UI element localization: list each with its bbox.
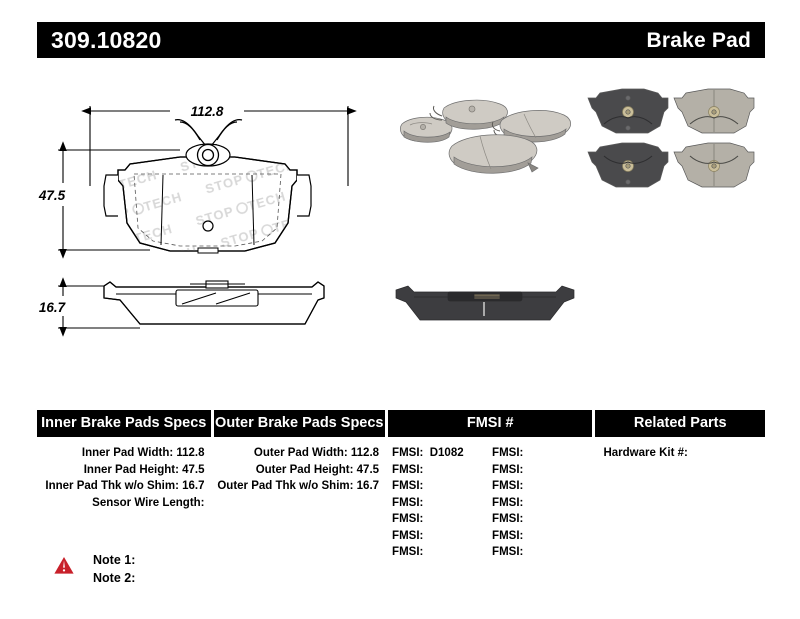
fmsi-line: FMSI: (492, 478, 592, 495)
product-photo-edge-view (392, 272, 578, 334)
fmsi-line: FMSI: (392, 495, 492, 512)
fmsi-column-left: FMSI: D1082 FMSI: FMSI: FMSI: FMSI: FMSI… (392, 445, 492, 561)
part-number: 309.10820 (51, 29, 162, 52)
pad-side-view (104, 281, 326, 326)
spec-table: Inner Brake Pads Specs Outer Brake Pads … (37, 410, 765, 561)
related-part-line: Hardware Kit #: (603, 445, 765, 462)
spec-line: Inner Pad Thk w/o Shim: 16.7 (37, 478, 205, 495)
spec-line: Sensor Wire Length: (37, 495, 205, 512)
note-line: Note 1: (93, 551, 135, 569)
technical-drawing: STOP TECH STOP TECH 112.8 4 (30, 78, 400, 363)
spec-line: Inner Pad Height: 47.5 (37, 462, 205, 479)
note-list: Note 1: Note 2: (93, 551, 135, 587)
header-bar: 309.10820 Brake Pad (37, 22, 765, 58)
fmsi-line: FMSI: (492, 445, 592, 462)
inner-specs-cell: Inner Pad Width: 112.8 Inner Pad Height:… (37, 445, 211, 561)
product-photo-flat-set (582, 84, 760, 196)
fmsi-line: FMSI: (392, 544, 492, 561)
fmsi-line: FMSI: (392, 528, 492, 545)
note-line: Note 2: (93, 569, 135, 587)
product-photo-angled-set (396, 84, 578, 194)
warning-triangle-icon (52, 554, 76, 576)
fmsi-line: FMSI: (492, 511, 592, 528)
fmsi-line: FMSI: (492, 528, 592, 545)
column-header-fmsi: FMSI # (388, 410, 592, 437)
spec-line: Outer Pad Height: 47.5 (214, 462, 380, 479)
fmsi-line: FMSI: (392, 462, 492, 479)
fmsi-line: FMSI: (392, 511, 492, 528)
spec-line: Outer Pad Width: 112.8 (214, 445, 380, 462)
dimension-height-label: 47.5 (38, 188, 66, 203)
fmsi-line: FMSI: (492, 544, 592, 561)
column-header-inner-specs: Inner Brake Pads Specs (37, 410, 211, 437)
fmsi-line: FMSI: (492, 495, 592, 512)
fmsi-line: FMSI: (492, 462, 592, 479)
dimension-width-label: 112.8 (191, 104, 224, 119)
column-header-outer-specs: Outer Brake Pads Specs (214, 410, 386, 437)
product-type: Brake Pad (646, 30, 751, 51)
spec-line: Inner Pad Width: 112.8 (37, 445, 205, 462)
fmsi-line: FMSI: D1082 (392, 445, 492, 462)
fmsi-cell: FMSI: D1082 FMSI: FMSI: FMSI: FMSI: FMSI… (388, 445, 592, 561)
related-parts-cell: Hardware Kit #: (595, 445, 765, 561)
table-body-row: Inner Pad Width: 112.8 Inner Pad Height:… (37, 437, 765, 561)
fmsi-line: FMSI: (392, 478, 492, 495)
table-header-row: Inner Brake Pads Specs Outer Brake Pads … (37, 410, 765, 437)
pad-outline (104, 144, 311, 253)
spec-line: Outer Pad Thk w/o Shim: 16.7 (214, 478, 380, 495)
notes-section: Note 1: Note 2: (52, 551, 135, 587)
outer-specs-cell: Outer Pad Width: 112.8 Outer Pad Height:… (214, 445, 386, 561)
column-header-related-parts: Related Parts (595, 410, 765, 437)
dimension-thickness-label: 16.7 (39, 300, 67, 315)
fmsi-column-right: FMSI: FMSI: FMSI: FMSI: FMSI: FMSI: FMSI… (492, 445, 592, 561)
